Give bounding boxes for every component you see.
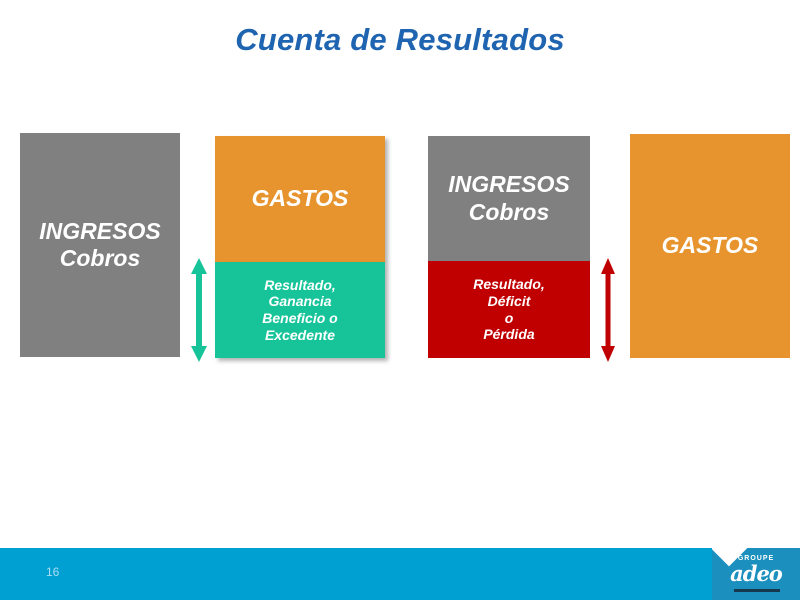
block-ingresos-loss: INGRESOS Cobros bbox=[428, 136, 590, 261]
block-resultado-negativo-line2: Déficit bbox=[473, 293, 545, 310]
block-resultado-positivo-line3: Beneficio o bbox=[262, 310, 337, 327]
block-resultado-negativo-line1: Resultado, bbox=[473, 276, 545, 293]
block-ingresos-profit-line2: Cobros bbox=[39, 245, 160, 272]
logo-underline bbox=[734, 589, 780, 592]
block-gastos-loss: GASTOS bbox=[630, 134, 790, 358]
page-number: 16 bbox=[46, 565, 59, 579]
block-resultado-positivo-line2: Ganancia bbox=[262, 293, 337, 310]
page-title: Cuenta de Resultados bbox=[0, 22, 800, 58]
block-resultado-positivo-line1: Resultado, bbox=[262, 277, 337, 294]
footer-bar bbox=[0, 548, 800, 600]
block-resultado-negativo-line4: Pérdida bbox=[473, 326, 545, 343]
block-resultado-positivo: Resultado, Ganancia Beneficio o Excedent… bbox=[215, 262, 385, 358]
profit-arrow-icon bbox=[186, 258, 212, 362]
groupe-adeo-logo: GROUPE adeo bbox=[712, 548, 800, 600]
block-ingresos-loss-line2: Cobros bbox=[448, 199, 569, 226]
loss-arrow bbox=[595, 258, 621, 362]
slide-canvas: Cuenta de Resultados INGRESOS Cobros GAS… bbox=[0, 0, 800, 600]
block-ingresos-profit-line1: INGRESOS bbox=[39, 218, 160, 245]
block-resultado-negativo: Resultado, Déficit o Pérdida bbox=[428, 261, 590, 358]
profit-arrow bbox=[186, 258, 212, 362]
loss-arrow-icon bbox=[595, 258, 621, 362]
block-ingresos-loss-line1: INGRESOS bbox=[448, 171, 569, 198]
logo-brand-text: adeo bbox=[712, 561, 800, 586]
block-ingresos-profit: INGRESOS Cobros bbox=[20, 133, 180, 357]
block-gastos-loss-label: GASTOS bbox=[662, 232, 759, 259]
block-resultado-positivo-line4: Excedente bbox=[262, 327, 337, 344]
block-gastos-profit-label: GASTOS bbox=[252, 185, 349, 212]
block-gastos-profit: GASTOS bbox=[215, 136, 385, 262]
block-resultado-negativo-line3: o bbox=[473, 310, 545, 327]
